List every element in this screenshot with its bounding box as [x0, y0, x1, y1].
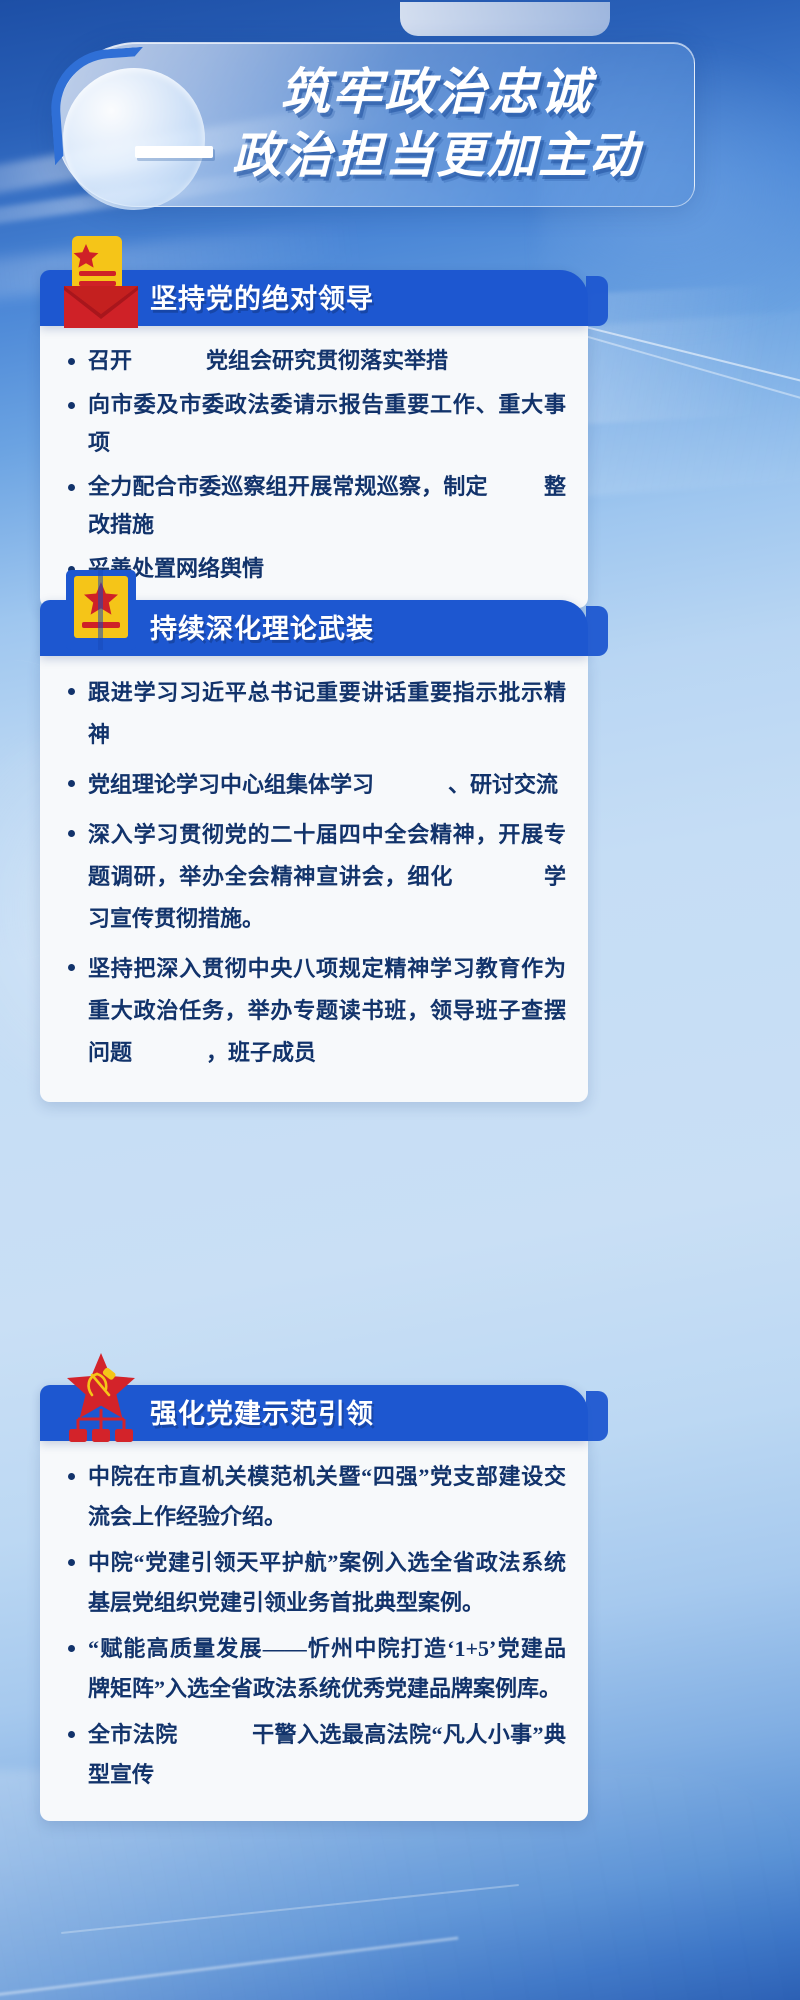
- section-bullet-list: 跟进学习习近平总书记重要讲话重要指示批示精神 党组理论学习中心组集体学习、研讨交…: [62, 672, 566, 1074]
- bullet-text-part: 深入学习贯彻党的二十届四中全会精神，开展专题调研，举办全会精神宣讲会，细化: [88, 822, 566, 889]
- bullet-text-part: 党组理论学习中心组集体学习: [88, 772, 374, 797]
- bullet-text-part: 中院在市直机关模范机关暨“四强”党支部建设交流会上作经验介绍。: [88, 1464, 566, 1529]
- section-title: 强化党建示范引领: [150, 1385, 374, 1441]
- section-header-bar: 强化党建示范引领: [40, 1385, 588, 1441]
- bullet-text-part: 党组会研究贯彻落实举措: [206, 348, 448, 373]
- section-bullet-list: 召开党组会研究贯彻落实举措 向市委及市委政法委请示报告重要工作、重大事项 全力配…: [62, 342, 566, 588]
- section-theory-study: 持续深化理论武装 跟进学习习近平总书记重要讲话重要指示批示精神 党组理论学习中心…: [40, 600, 588, 1102]
- page-title-line-2: 政治担当更加主动: [181, 124, 691, 188]
- section-body: 跟进学习习近平总书记重要讲话重要指示批示精神 党组理论学习中心组集体学习、研讨交…: [40, 656, 588, 1102]
- bullet-text-part: 召开: [88, 348, 132, 373]
- section-title: 持续深化理论武装: [150, 600, 374, 656]
- bullet-text-part: ，班子成员: [206, 1040, 316, 1065]
- list-item: 中院在市直机关模范机关暨“四强”党支部建设交流会上作经验介绍。: [62, 1457, 566, 1537]
- party-emblem-star-icon: [62, 1351, 140, 1443]
- section-title: 坚持党的绝对领导: [150, 270, 374, 326]
- bullet-text-part: “赋能高质量发展——忻州中院打造‘1+5’党建品牌矩阵”入选全省政法系统优秀党建…: [88, 1636, 566, 1701]
- list-item: 深入学习贯彻党的二十届四中全会精神，开展专题调研，举办全会精神宣讲会，细化学习宣…: [62, 814, 566, 940]
- list-item: 中院“党建引领天平护航”案例入选全省政法系统基层党组织党建引领业务首批典型案例。: [62, 1543, 566, 1623]
- bullet-text-part: 坚持把深入贯彻中央八项规定精神学习教育作为重大政治任务，举办专题读书班，领导班子…: [88, 956, 566, 1065]
- bullet-text-part: 跟进学习习近平总书记重要讲话重要指示批示精神: [88, 680, 566, 747]
- section-party-building: 强化党建示范引领 中院在市直机关模范机关暨“四强”党支部建设交流会上作经验介绍。…: [40, 1385, 588, 1821]
- section-header-bar: 持续深化理论武装: [40, 600, 588, 656]
- list-item: 党组理论学习中心组集体学习、研讨交流: [62, 764, 566, 806]
- decor-bottom-line-one: [0, 1937, 458, 2000]
- bullet-text-part: 向市委及市委政法委请示报告重要工作、重大事项: [88, 392, 566, 455]
- bullet-text-part: 全市法院: [88, 1722, 178, 1747]
- page-title-line-1: 筑牢政治忠诚: [181, 60, 691, 124]
- list-item: 向市委及市委政法委请示报告重要工作、重大事项: [62, 386, 566, 462]
- poster-root: 筑牢政治忠诚 政治担当更加主动: [0, 0, 800, 2000]
- poster-title: 筑牢政治忠诚 政治担当更加主动: [181, 60, 691, 188]
- list-item: 坚持把深入贯彻中央八项规定精神学习教育作为重大政治任务，举办专题读书班，领导班子…: [62, 948, 566, 1074]
- section-party-leadership: 坚持党的绝对领导 召开党组会研究贯彻落实举措 向市委及市委政法委请示报告重要工作…: [40, 270, 588, 608]
- decor-bottom-line-two: [61, 1884, 519, 1934]
- list-item: 全市法院干警入选最高法院“凡人小事”典型宣传: [62, 1715, 566, 1795]
- title-banner: 筑牢政治忠诚 政治担当更加主动: [55, 42, 695, 212]
- decor-top-pill: [400, 2, 610, 36]
- open-book-icon: [62, 566, 140, 658]
- bullet-text-part: 中院“党建引领天平护航”案例入选全省政法系统基层党组织党建引领业务首批典型案例。: [88, 1550, 566, 1615]
- section-bullet-list: 中院在市直机关模范机关暨“四强”党支部建设交流会上作经验介绍。 中院“党建引领天…: [62, 1457, 566, 1795]
- bullet-text-part: 、研讨交流: [448, 772, 558, 797]
- list-item: “赋能高质量发展——忻州中院打造‘1+5’党建品牌矩阵”入选全省政法系统优秀党建…: [62, 1629, 566, 1709]
- decor-thin-line-two: [565, 329, 800, 408]
- bullet-text-part: 全力配合市委巡察组开展常规巡察，制定: [88, 474, 488, 499]
- list-item: 跟进学习习近平总书记重要讲话重要指示批示精神: [62, 672, 566, 756]
- section-body: 中院在市直机关模范机关暨“四强”党支部建设交流会上作经验介绍。 中院“党建引领天…: [40, 1441, 588, 1821]
- list-item: 全力配合市委巡察组开展常规巡察，制定整改措施: [62, 468, 566, 544]
- section-header-bar: 坚持党的绝对领导: [40, 270, 588, 326]
- envelope-document-icon: [62, 236, 140, 328]
- list-item: 召开党组会研究贯彻落实举措: [62, 342, 566, 380]
